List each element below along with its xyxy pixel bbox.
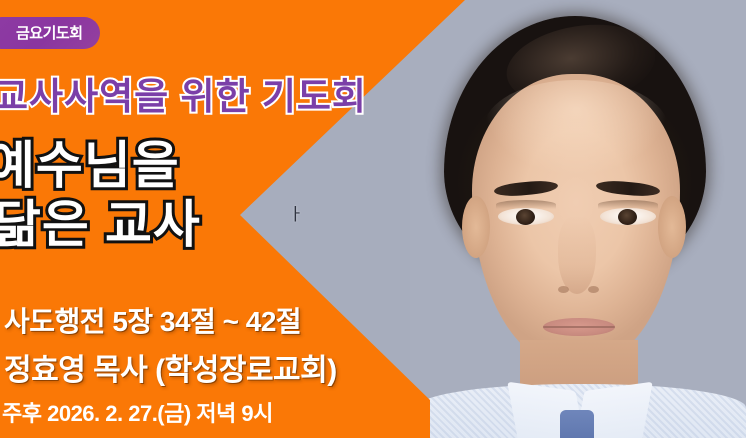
eye-right	[600, 208, 656, 225]
eye-left	[498, 208, 554, 225]
necktie	[560, 410, 594, 438]
headline-text: 교사사역을 위한 기도회	[0, 66, 367, 120]
prayer-meeting-poster: ㅏ 금요기도회 교사사역을 위한 기도회 예수님을 닮은 교사 사도행전 5장 …	[0, 0, 746, 438]
speaker-portrait-photo	[410, 0, 746, 438]
ear-right	[658, 196, 686, 258]
main-title-line-1: 예수님을	[0, 137, 180, 194]
nose	[558, 216, 596, 294]
ear-left	[462, 196, 490, 258]
scripture-reference: 사도행전 5장 34절 ~ 42절	[4, 300, 301, 340]
category-badge: 금요기도회	[0, 17, 100, 49]
iris-right	[618, 209, 637, 225]
main-title-line-2: 닮은 교사	[0, 195, 201, 254]
nostril-left	[558, 286, 569, 293]
nostril-right	[588, 286, 599, 293]
event-datetime: 주후 2026. 2. 27.(금) 저녁 9시	[2, 396, 273, 428]
eyelid-right	[598, 200, 658, 209]
speaker-name: 정효영 목사 (학성장로교회)	[4, 345, 337, 389]
forehead-highlight	[484, 80, 668, 176]
eyelid-left	[496, 200, 556, 209]
iris-left	[516, 209, 535, 225]
main-title: 예수님을 닮은 교사	[0, 136, 201, 254]
wedge-caret-icon: ㅏ	[288, 207, 304, 224]
mouth-line	[543, 326, 615, 328]
